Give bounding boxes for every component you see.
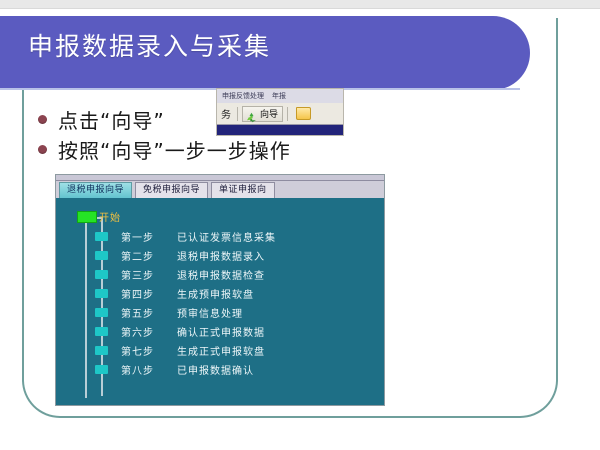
bullet-text: 按照“向导”一步一步操作: [58, 135, 291, 164]
menu-bar: 申报反馈处理 年报: [217, 89, 343, 103]
bullet-dot-icon: [38, 145, 47, 154]
step-number: 第二步: [121, 248, 177, 263]
step-name: 退税申报数据录入: [177, 248, 265, 263]
wizard-step-6[interactable]: 第六步 确认正式申报数据: [56, 322, 384, 341]
step-number: 第六步: [121, 324, 177, 339]
tab-exempt-declaration-wizard[interactable]: 免税申报向导: [135, 182, 208, 198]
step-node-icon: [95, 232, 108, 241]
tool-row: 务 向导: [217, 103, 343, 124]
toolbar-divider: [237, 107, 238, 121]
step-name: 确认正式申报数据: [177, 324, 265, 339]
menu-item-feedback[interactable]: 申报反馈处理: [222, 91, 264, 101]
wizard-step-5[interactable]: 第五步 预审信息处理: [56, 303, 384, 322]
step-number: 第四步: [121, 286, 177, 301]
step-number: 第一步: [121, 229, 177, 244]
wizard-tab-bar: 退税申报向导 免税申报向导 单证申报向: [56, 181, 384, 198]
top-strip: [0, 0, 600, 9]
partial-button-label[interactable]: 务: [219, 106, 233, 121]
list-item: 按照“向导”一步一步操作: [38, 134, 458, 164]
folder-icon[interactable]: [296, 107, 311, 120]
bullet-text: 点击“向导”: [58, 105, 165, 134]
toolbar-screenshot: 申报反馈处理 年报 务 向导: [216, 88, 344, 136]
step-name: 已申报数据确认: [177, 362, 254, 377]
step-name: 生成正式申报软盘: [177, 343, 265, 358]
start-marker-icon: [77, 211, 97, 223]
wizard-window-screenshot: 退税申报向导 免税申报向导 单证申报向 开始 第一步 已认证发票信息采集 第二: [55, 174, 385, 406]
menu-item-annual[interactable]: 年报: [272, 91, 286, 101]
page-title: 申报数据录入与采集: [28, 27, 271, 63]
step-node-icon: [95, 270, 108, 279]
step-node-icon: [95, 251, 108, 260]
wizard-step-4[interactable]: 第四步 生成预申报软盘: [56, 284, 384, 303]
wizard-step-2[interactable]: 第二步 退税申报数据录入: [56, 246, 384, 265]
step-number: 第五步: [121, 305, 177, 320]
step-number: 第三步: [121, 267, 177, 282]
window-title-bar: [217, 124, 343, 136]
step-node-icon: [95, 308, 108, 317]
step-number: 第七步: [121, 343, 177, 358]
step-name: 预审信息处理: [177, 305, 243, 320]
step-name: 已认证发票信息采集: [177, 229, 276, 244]
wizard-step-7[interactable]: 第七步 生成正式申报软盘: [56, 341, 384, 360]
bullet-dot-icon: [38, 115, 47, 124]
wizard-start-label: 开始: [99, 209, 121, 224]
step-number: 第八步: [121, 362, 177, 377]
recycle-icon: [246, 108, 257, 119]
wizard-step-3[interactable]: 第三步 退税申报数据检查: [56, 265, 384, 284]
wizard-step-1[interactable]: 第一步 已认证发票信息采集: [56, 227, 384, 246]
presentation-slide: 申报数据录入与采集 点击“向导” 按照“向导”一步一步操作 申报反馈处理 年报 …: [0, 0, 600, 450]
wizard-step-list: 第一步 已认证发票信息采集 第二步 退税申报数据录入 第三步 退税申报数据检查 …: [56, 227, 384, 379]
toolbar-divider: [287, 107, 288, 121]
tab-refund-declaration-wizard[interactable]: 退税申报向导: [59, 182, 132, 198]
wizard-step-8[interactable]: 第八步 已申报数据确认: [56, 360, 384, 379]
tab-document-declaration-wizard[interactable]: 单证申报向: [211, 182, 275, 198]
wizard-body: 开始 第一步 已认证发票信息采集 第二步 退税申报数据录入 第三步 退税申报数据…: [56, 198, 384, 406]
wizard-button-label: 向导: [260, 107, 278, 120]
step-node-icon: [95, 365, 108, 374]
wizard-start-marker: [77, 211, 97, 223]
wizard-button[interactable]: 向导: [242, 106, 283, 122]
step-node-icon: [95, 289, 108, 298]
step-node-icon: [95, 327, 108, 336]
step-name: 生成预申报软盘: [177, 286, 254, 301]
step-name: 退税申报数据检查: [177, 267, 265, 282]
step-node-icon: [95, 346, 108, 355]
